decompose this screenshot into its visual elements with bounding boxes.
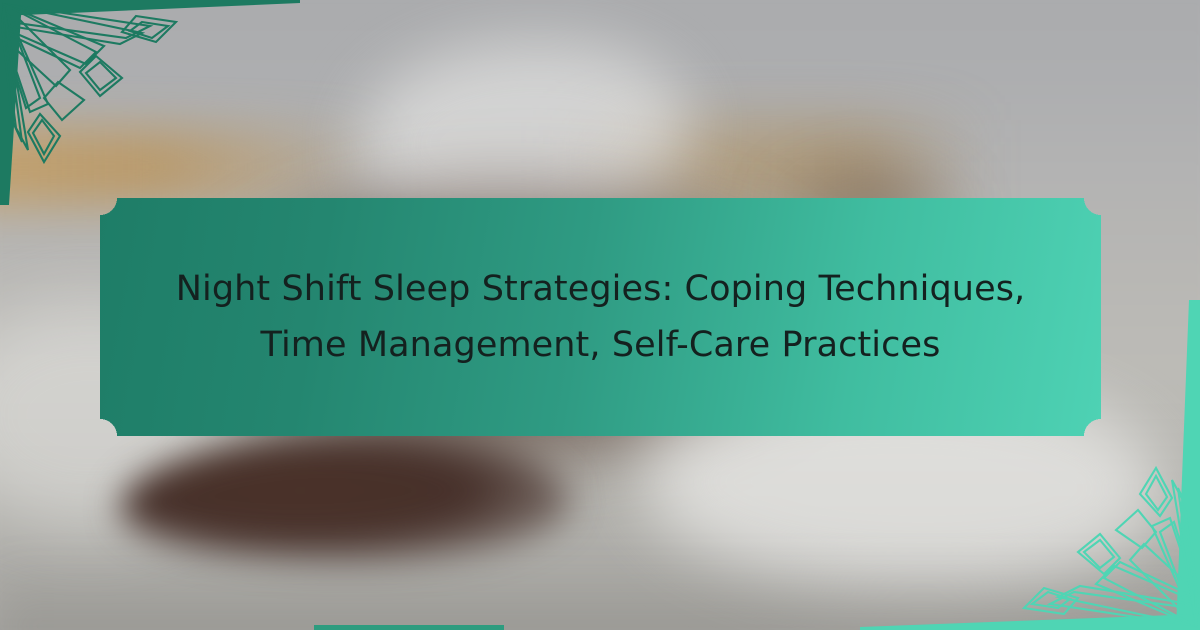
- title-banner: Night Shift Sleep Strategies: Coping Tec…: [100, 198, 1101, 436]
- background-bottom-shadow: [0, 560, 1200, 630]
- social-card: Night Shift Sleep Strategies: Coping Tec…: [0, 0, 1200, 630]
- frame-edge-bottom-stub: [314, 625, 504, 630]
- page-title: Night Shift Sleep Strategies: Coping Tec…: [161, 261, 1041, 373]
- background-headboard-left: [0, 128, 390, 206]
